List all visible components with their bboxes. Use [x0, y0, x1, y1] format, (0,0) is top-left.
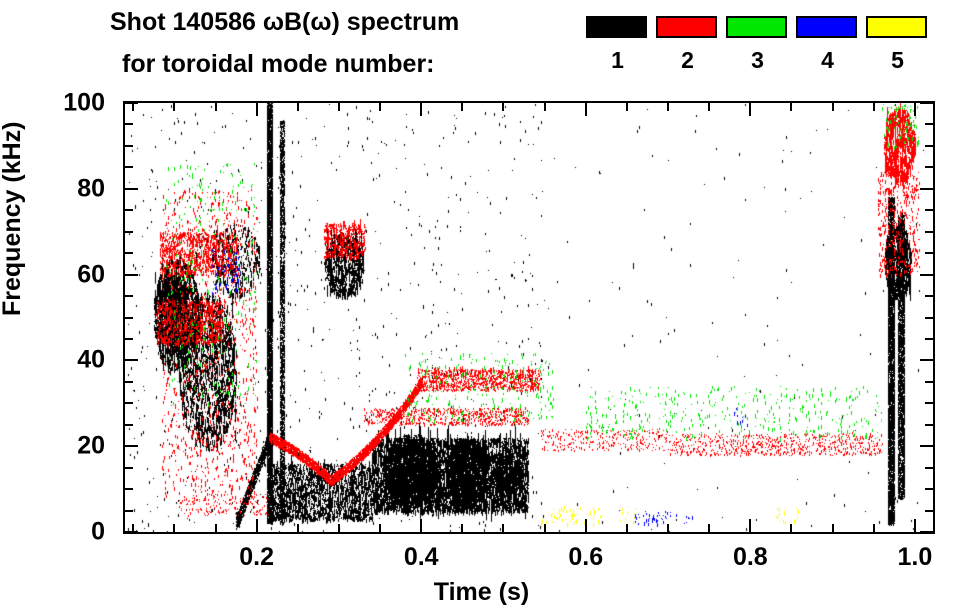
x-tick-major-0.2 — [256, 519, 258, 532]
x-tick-minor-0.05 — [132, 524, 134, 532]
y-tick-minor-65 — [125, 252, 133, 254]
x-tick-major-0.8 — [749, 519, 751, 532]
x-tick-minor-0.7 — [667, 524, 669, 532]
x-tick-top-minor-0.7 — [667, 103, 669, 111]
x-tick-minor-0.15 — [215, 524, 217, 532]
y-tick-right-minor-70 — [925, 231, 933, 233]
y-tick-right-major-80 — [920, 188, 933, 190]
x-tick-top-minor-0.85 — [790, 103, 792, 111]
y-tick-right-major-0 — [920, 531, 933, 533]
x-tick-top-major-0.4 — [420, 103, 422, 116]
y-tick-minor-95 — [125, 123, 133, 125]
x-tick-minor-0.75 — [708, 524, 710, 532]
y-tick-minor-25 — [125, 424, 133, 426]
x-tick-minor-0.95 — [873, 524, 875, 532]
legend-entry-3: 3 — [726, 16, 789, 73]
y-tick-minor-55 — [125, 295, 133, 297]
x-tick-minor-0.25 — [297, 524, 299, 532]
spectrogram-figure: Shot 140586 ωB(ω) spectrum for toroidal … — [0, 0, 963, 615]
x-tick-minor-0.1 — [173, 524, 175, 532]
y-tick-right-minor-55 — [925, 295, 933, 297]
y-tick-minor-90 — [125, 145, 133, 147]
y-tick-right-minor-95 — [925, 123, 933, 125]
figure-title-line1: Shot 140586 ωB(ω) spectrum — [110, 8, 459, 37]
legend-label-1: 1 — [586, 47, 649, 73]
x-tick-major-0.6 — [585, 519, 587, 532]
y-tick-minor-10 — [125, 488, 133, 490]
legend-swatch-2 — [656, 16, 717, 38]
x-tick-top-minor-0.1 — [173, 103, 175, 111]
legend-entry-5: 5 — [866, 16, 929, 73]
legend-entry-1: 1 — [586, 16, 649, 73]
y-tick-right-minor-75 — [925, 209, 933, 211]
x-tick-top-major-0.2 — [256, 103, 258, 116]
x-tick-top-major-1 — [914, 103, 916, 116]
y-tick-right-major-20 — [920, 445, 933, 447]
y-axis-title: Frequency (kHz) — [0, 122, 27, 316]
x-tick-top-minor-0.55 — [544, 103, 546, 111]
x-tick-minor-0.65 — [626, 524, 628, 532]
legend-swatch-3 — [726, 16, 787, 38]
x-tick-minor-0.3 — [338, 524, 340, 532]
x-tick-minor-0.5 — [502, 524, 504, 532]
y-tick-right-minor-45 — [925, 338, 933, 340]
y-tick-minor-35 — [125, 381, 133, 383]
legend-swatch-1 — [586, 16, 647, 38]
y-tick-major-40 — [125, 359, 138, 361]
x-tick-top-minor-0.65 — [626, 103, 628, 111]
y-tick-right-minor-85 — [925, 166, 933, 168]
x-tick-label-0.8: 0.8 — [733, 543, 768, 572]
y-tick-right-minor-35 — [925, 381, 933, 383]
legend-label-2: 2 — [656, 47, 719, 73]
x-tick-top-minor-0.35 — [379, 103, 381, 111]
y-tick-label-0: 0 — [0, 518, 105, 547]
x-tick-minor-0.9 — [832, 524, 834, 532]
legend-entry-4: 4 — [796, 16, 859, 73]
y-tick-right-minor-50 — [925, 317, 933, 319]
y-tick-right-major-40 — [920, 359, 933, 361]
x-tick-major-0.4 — [420, 519, 422, 532]
x-tick-top-minor-0.15 — [215, 103, 217, 111]
plot-area — [123, 101, 935, 534]
x-tick-top-minor-0.9 — [832, 103, 834, 111]
x-tick-minor-0.35 — [379, 524, 381, 532]
legend-label-5: 5 — [866, 47, 929, 73]
legend-swatch-5 — [866, 16, 927, 38]
x-tick-top-minor-0.3 — [338, 103, 340, 111]
legend-entry-2: 2 — [656, 16, 719, 73]
x-tick-top-major-0.8 — [749, 103, 751, 116]
spectrogram-canvas-wrapper — [125, 103, 933, 532]
y-tick-label-40: 40 — [0, 346, 105, 375]
x-tick-minor-0.45 — [461, 524, 463, 532]
x-tick-minor-0.85 — [790, 524, 792, 532]
x-tick-label-0.6: 0.6 — [568, 543, 603, 572]
x-tick-label-1.0: 1.0 — [898, 543, 933, 572]
y-tick-minor-75 — [125, 209, 133, 211]
y-tick-right-minor-30 — [925, 402, 933, 404]
y-tick-label-100: 100 — [0, 89, 105, 118]
y-tick-major-20 — [125, 445, 138, 447]
legend-label-3: 3 — [726, 47, 789, 73]
x-tick-label-0.4: 0.4 — [404, 543, 439, 572]
y-tick-right-minor-10 — [925, 488, 933, 490]
mode-number-legend: 12345 — [586, 16, 936, 92]
y-tick-minor-50 — [125, 317, 133, 319]
y-tick-minor-5 — [125, 510, 133, 512]
y-tick-major-80 — [125, 188, 138, 190]
y-tick-minor-85 — [125, 166, 133, 168]
x-tick-top-minor-0.05 — [132, 103, 134, 111]
y-tick-right-minor-5 — [925, 510, 933, 512]
y-tick-right-major-100 — [920, 102, 933, 104]
x-tick-minor-0.55 — [544, 524, 546, 532]
x-tick-top-minor-0.95 — [873, 103, 875, 111]
x-tick-top-minor-0.75 — [708, 103, 710, 111]
x-tick-top-minor-0.5 — [502, 103, 504, 111]
x-axis-title: Time (s) — [0, 578, 963, 607]
y-tick-minor-45 — [125, 338, 133, 340]
x-tick-label-0.2: 0.2 — [239, 543, 274, 572]
legend-label-4: 4 — [796, 47, 859, 73]
y-tick-major-60 — [125, 274, 138, 276]
y-tick-minor-30 — [125, 402, 133, 404]
x-tick-top-minor-0.25 — [297, 103, 299, 111]
x-tick-top-minor-0.45 — [461, 103, 463, 111]
y-tick-label-20: 20 — [0, 432, 105, 461]
x-tick-top-major-0.6 — [585, 103, 587, 116]
y-tick-right-minor-25 — [925, 424, 933, 426]
figure-title-line2: for toroidal mode number: — [122, 50, 435, 79]
y-tick-right-major-60 — [920, 274, 933, 276]
spectrogram-canvas — [125, 103, 933, 532]
x-tick-major-1 — [914, 519, 916, 532]
y-tick-right-minor-15 — [925, 467, 933, 469]
y-tick-minor-15 — [125, 467, 133, 469]
y-tick-minor-70 — [125, 231, 133, 233]
y-tick-right-minor-65 — [925, 252, 933, 254]
legend-swatch-4 — [796, 16, 857, 38]
y-tick-right-minor-90 — [925, 145, 933, 147]
